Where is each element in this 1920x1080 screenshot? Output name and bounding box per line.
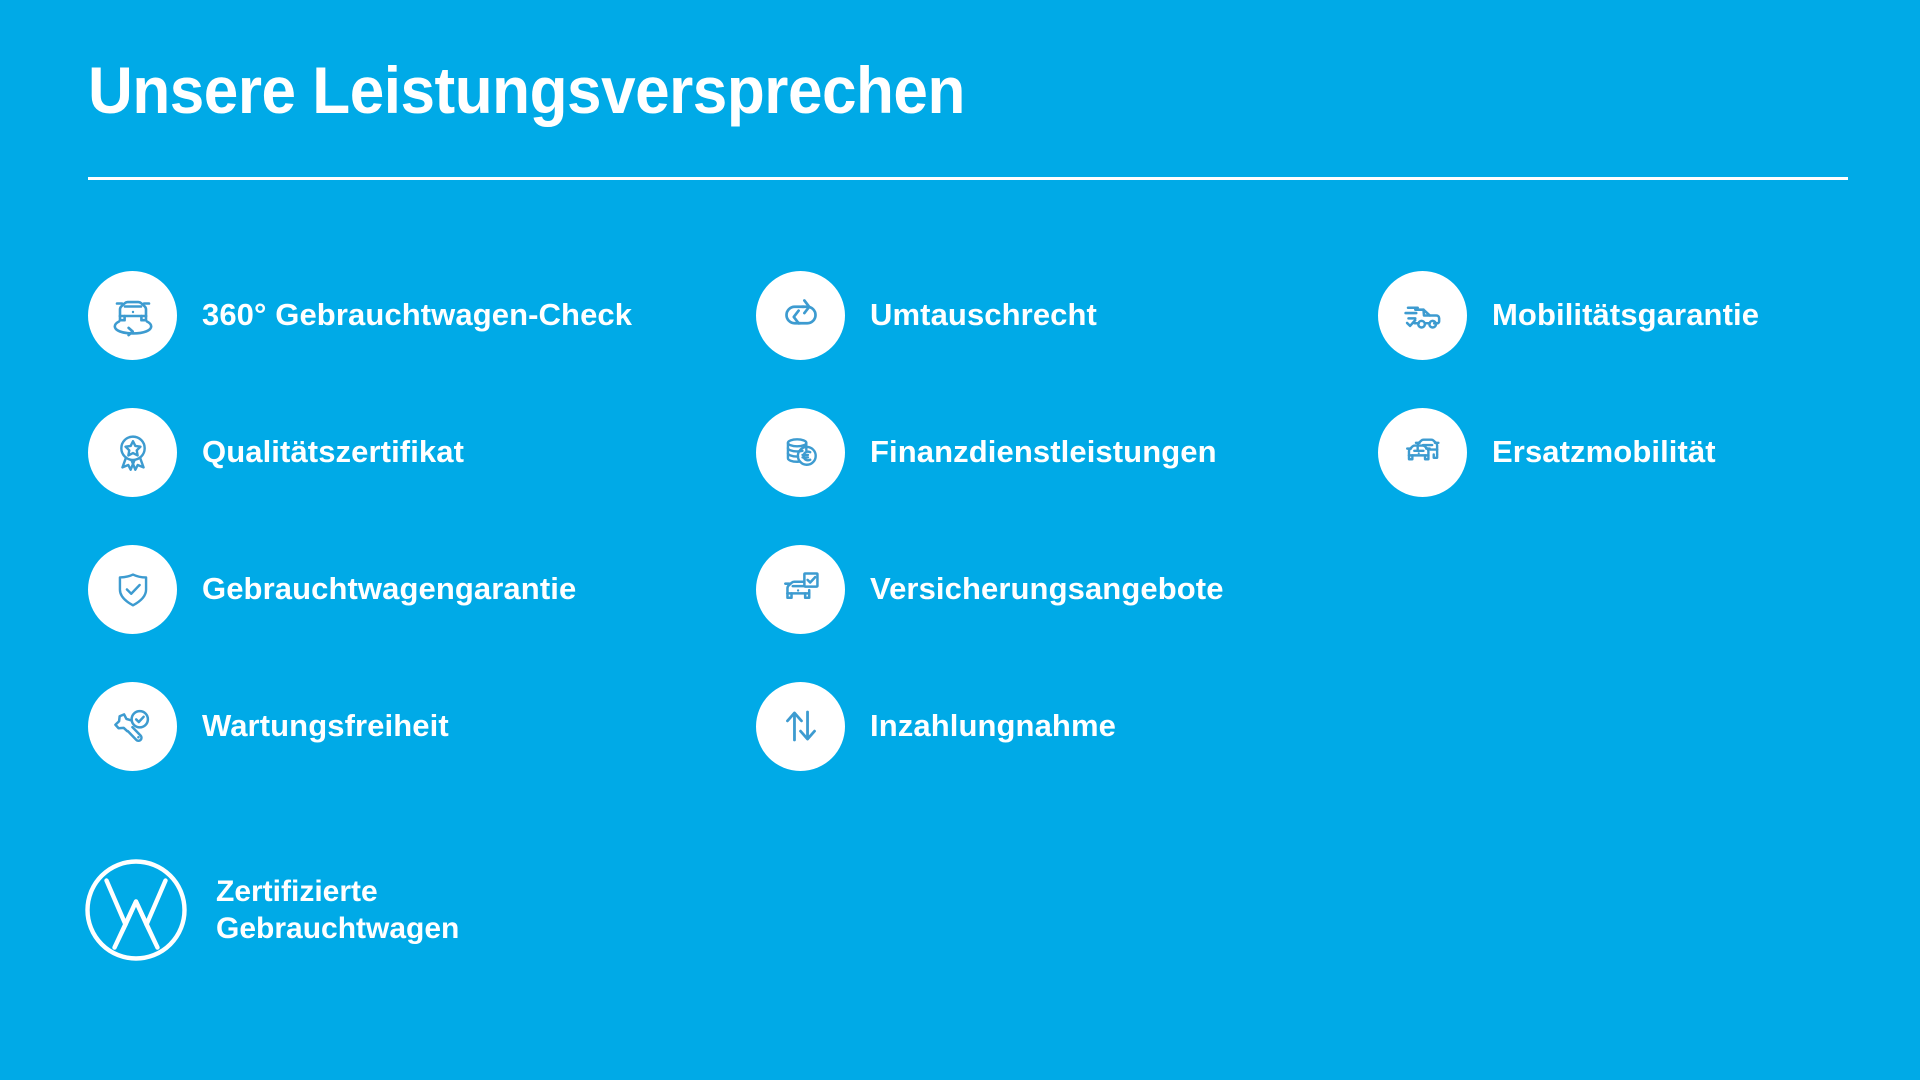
award-rosette-icon xyxy=(88,408,177,497)
lockup-text: Zertifizierte Gebrauchtwagen xyxy=(216,873,459,948)
title-block: Unsere Leistungsversprechen xyxy=(88,56,1848,125)
promise-item-versicherungsangebote: Versicherungsangebote xyxy=(756,542,1378,636)
promise-item-360-check: 360° Gebrauchtwagen-Check xyxy=(88,268,756,362)
promise-item-inzahlungnahme: Inzahlungnahme xyxy=(756,679,1378,773)
slide-root: Unsere Leistungsversprechen 360 xyxy=(0,0,1920,1080)
promise-label: Finanzdienstleistungen xyxy=(870,434,1217,470)
volkswagen-lockup: Zertifizierte Gebrauchtwagen xyxy=(84,858,459,962)
two-cars-icon xyxy=(1378,408,1467,497)
promise-label: Inzahlungnahme xyxy=(870,708,1116,744)
promise-label: Umtauschrecht xyxy=(870,297,1097,333)
promise-item-mobilitaetsgarantie: Mobilitätsgarantie xyxy=(1378,268,1878,362)
up-down-arrows-icon xyxy=(756,682,845,771)
wrench-check-icon xyxy=(88,682,177,771)
promise-label: Mobilitätsgarantie xyxy=(1492,297,1759,333)
promise-label: 360° Gebrauchtwagen-Check xyxy=(202,297,632,333)
promise-label: Ersatzmobilität xyxy=(1492,434,1716,470)
promise-item-ersatzmobilitaet: Ersatzmobilität xyxy=(1378,405,1878,499)
car-360-rotate-icon xyxy=(88,271,177,360)
car-checkbox-icon xyxy=(756,545,845,634)
volkswagen-logo xyxy=(84,858,188,962)
promise-label: Qualitätszertifikat xyxy=(202,434,464,470)
promise-item-wartungsfreiheit: Wartungsfreiheit xyxy=(88,679,756,773)
lockup-line-2: Gebrauchtwagen xyxy=(216,910,459,948)
shield-check-icon xyxy=(88,545,177,634)
car-speed-check-icon xyxy=(1378,271,1467,360)
exchange-arrows-icon xyxy=(756,271,845,360)
euro-coins-icon xyxy=(756,408,845,497)
promise-label: Versicherungsangebote xyxy=(870,571,1224,607)
title-divider xyxy=(88,177,1848,180)
promise-item-finanzdienstleistungen: Finanzdienstleistungen xyxy=(756,405,1378,499)
promise-label: Wartungsfreiheit xyxy=(202,708,449,744)
promise-item-umtauschrecht: Umtauschrecht xyxy=(756,268,1378,362)
promise-grid: 360° Gebrauchtwagen-Check Umtauschrecht xyxy=(88,268,1878,816)
promise-item-gebrauchtwagengarantie: Gebrauchtwagengarantie xyxy=(88,542,756,636)
promise-item-qualitaetszertifikat: Qualitätszertifikat xyxy=(88,405,756,499)
lockup-line-1: Zertifizierte xyxy=(216,873,459,911)
page-title: Unsere Leistungsversprechen xyxy=(88,56,1742,125)
promise-label: Gebrauchtwagengarantie xyxy=(202,571,576,607)
